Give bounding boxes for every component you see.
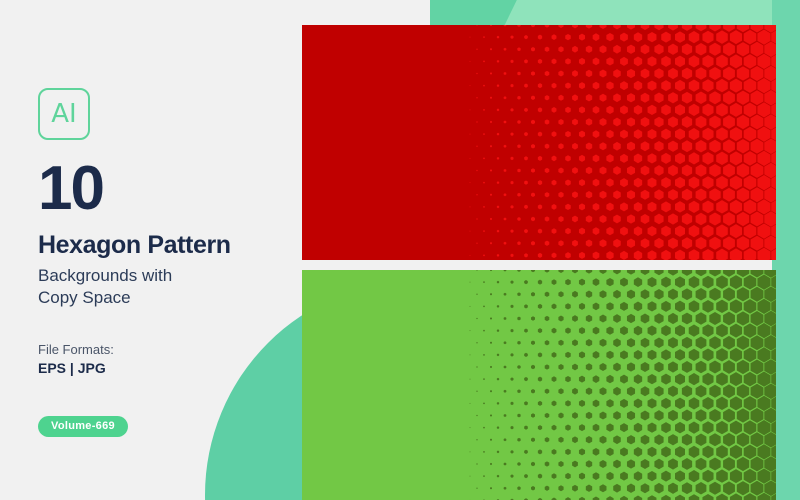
green-hexagon-panel <box>302 270 776 500</box>
file-formats-value: EPS | JPG <box>38 361 106 375</box>
ai-badge-label: AI <box>51 101 76 127</box>
file-formats-label: File Formats: <box>38 343 114 356</box>
info-column: AI 10 Hexagon Pattern Backgrounds with C… <box>38 0 288 500</box>
subtitle-line-2: Copy Space <box>38 287 172 309</box>
page-title: Hexagon Pattern <box>38 233 231 258</box>
pack-count: 10 <box>38 158 103 220</box>
red-hexagon-panel <box>302 25 776 260</box>
red-hexagon-pattern <box>302 25 776 260</box>
teal-right-strip <box>772 0 800 500</box>
ai-format-badge: AI <box>38 88 90 140</box>
volume-badge: Volume-669 <box>38 416 128 437</box>
subtitle-line-1: Backgrounds with <box>38 265 172 287</box>
green-hexagon-pattern <box>302 270 776 500</box>
preview-canvas: AI 10 Hexagon Pattern Backgrounds with C… <box>0 0 800 500</box>
page-subtitle: Backgrounds with Copy Space <box>38 265 172 309</box>
